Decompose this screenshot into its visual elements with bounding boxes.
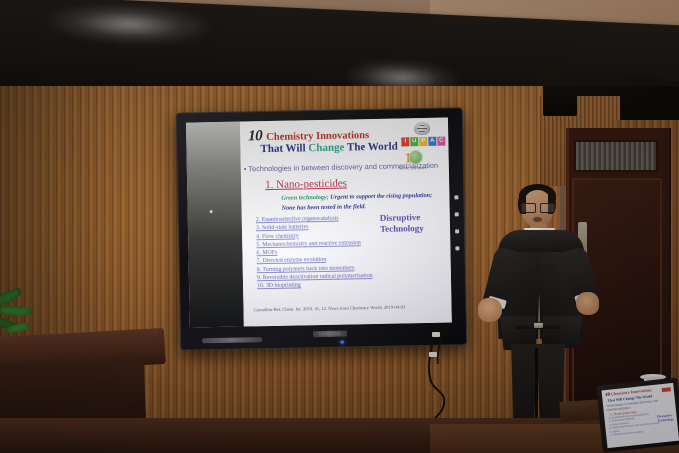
presentation-room-photo: 10 Chemistry Innovations That Will Chang… <box>0 0 679 453</box>
beam-highlight-left <box>48 1 210 48</box>
photo-vignette <box>0 86 679 453</box>
